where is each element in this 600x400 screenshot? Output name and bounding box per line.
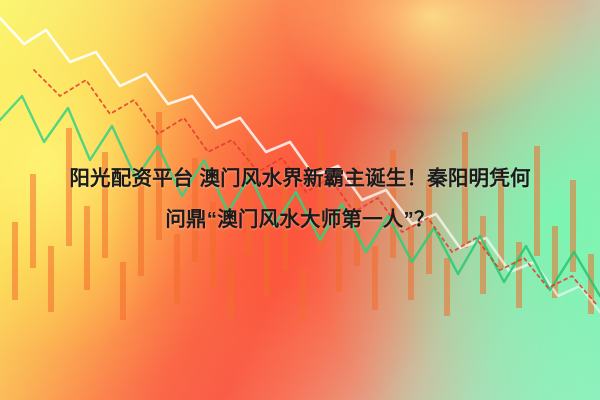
banner-image: 阳光配资平台 澳门风水界新霸主诞生！秦阳明凭何 问鼎“澳门风水大师第一人”？ <box>0 0 600 400</box>
headline-line-2: 问鼎“澳门风水大师第一人”？ <box>0 199 600 240</box>
headline-text: 阳光配资平台 澳门风水界新霸主诞生！秦阳明凭何 问鼎“澳门风水大师第一人”？ <box>0 158 600 240</box>
headline-line-1: 阳光配资平台 澳门风水界新霸主诞生！秦阳明凭何 <box>0 158 600 199</box>
